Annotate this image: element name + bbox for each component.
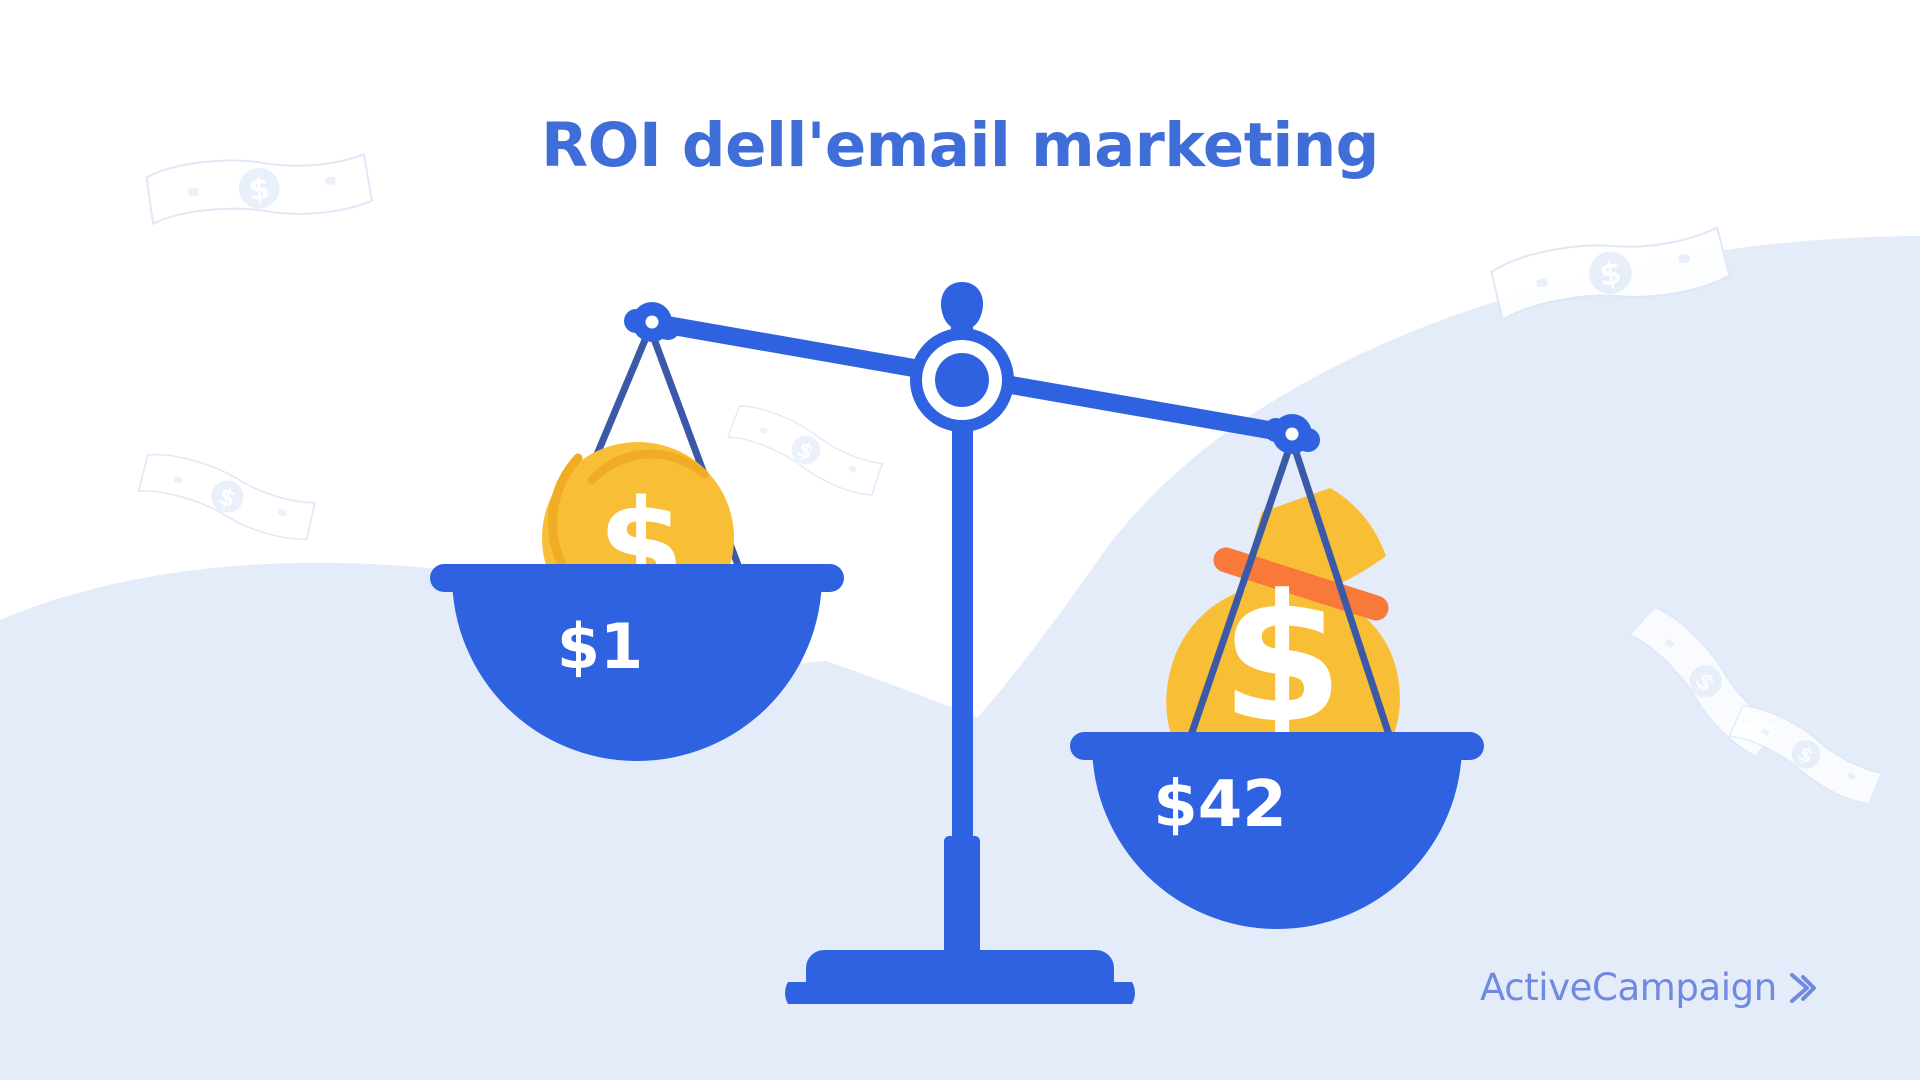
infographic-canvas: $ xyxy=(0,0,1920,1080)
scale-stand xyxy=(785,372,1135,1004)
activecampaign-logo[interactable]: ActiveCampaign xyxy=(1480,966,1818,1009)
logo-wordmark: ActiveCampaign xyxy=(1480,966,1777,1009)
scale-fulcrum xyxy=(910,282,1014,432)
scale-column xyxy=(952,372,973,846)
right-pan-rim xyxy=(1070,732,1484,760)
chevron-right-icon xyxy=(1788,971,1818,1005)
scale-base-lower xyxy=(785,982,1135,1004)
fulcrum-hub xyxy=(935,353,989,407)
left-pan-amount: $1 xyxy=(440,610,760,683)
left-pan-rim xyxy=(430,564,844,592)
left-beam-end xyxy=(624,302,680,342)
scale-column-lower xyxy=(944,836,980,958)
right-pan-amount: $42 xyxy=(1060,768,1380,842)
right-beam-end xyxy=(1264,414,1320,454)
page-title: ROI dell'email marketing xyxy=(0,110,1920,181)
